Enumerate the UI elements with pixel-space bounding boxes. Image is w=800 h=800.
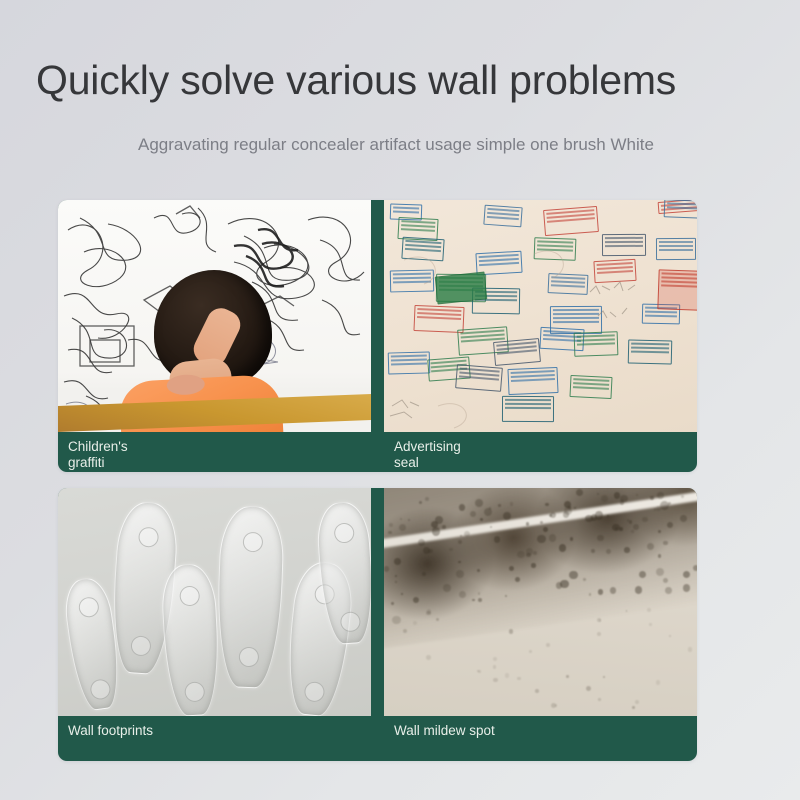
mildew-spot	[683, 571, 690, 578]
shoe-sole-print	[215, 505, 285, 689]
mildew-spot	[551, 703, 556, 708]
mildew-spot	[509, 566, 514, 571]
mildew-spot	[456, 570, 464, 578]
gallery-tile-advertising-seal[interactable]: Advertising seal	[384, 200, 697, 471]
mildew-spot	[663, 578, 668, 583]
tile-caption: Wall footprints	[58, 716, 371, 749]
mildew-spot	[427, 609, 432, 614]
mildew-spot	[635, 700, 639, 704]
mildew-spot	[566, 675, 569, 678]
photo-wall-mildew-spot	[384, 488, 697, 716]
mildew-spot	[635, 586, 642, 593]
mildew-spot	[531, 563, 535, 567]
mildew-spot	[517, 677, 521, 681]
mildew-spot	[549, 534, 557, 542]
mildew-spot	[459, 504, 465, 510]
mildew-spot	[656, 680, 661, 685]
mildew-spot	[680, 515, 687, 522]
mildew-spot	[517, 551, 525, 559]
gallery-tile-wall-mildew-spot[interactable]: Wall mildew spot	[384, 488, 697, 749]
mildew-spot	[598, 589, 604, 595]
mildew-spot	[400, 518, 402, 520]
mildew-spot	[458, 540, 462, 544]
tile-divider	[371, 200, 384, 471]
mildew-spot	[624, 547, 629, 552]
mildew-spot	[545, 503, 548, 506]
mildew-spot	[589, 593, 591, 595]
mildew-spot	[394, 558, 401, 565]
shoe-sole-print	[160, 563, 222, 716]
mildew-spot	[657, 492, 664, 499]
mildew-spot	[423, 547, 430, 554]
mildew-spot	[384, 566, 389, 571]
mildew-spot	[642, 517, 647, 522]
caption-line-2: graffiti	[68, 455, 371, 471]
caption-line-1: Children's	[68, 439, 371, 455]
page-title: Quickly solve various wall problems	[36, 56, 676, 104]
mildew-spot	[597, 535, 604, 542]
photo-advertising-seal	[384, 200, 697, 432]
tile-caption: Advertising seal	[384, 432, 697, 471]
gallery-tile-childrens-graffiti[interactable]: Children's graffiti	[58, 200, 371, 471]
photo-childrens-graffiti	[58, 200, 371, 432]
caption-line-1: Wall mildew spot	[394, 723, 697, 739]
mildew-spot	[586, 686, 591, 691]
mildew-spot	[425, 497, 429, 501]
photo-wall-footprints	[58, 488, 371, 716]
mildew-spot	[537, 535, 545, 543]
handwriting-marks-icon	[384, 200, 697, 432]
mildew-spot	[535, 689, 539, 693]
gallery-row-bottom: Wall footprints Wall mildew spot	[58, 488, 697, 761]
mildew-spot	[649, 623, 651, 625]
mildew-spot	[599, 619, 601, 621]
mildew-spot	[529, 650, 532, 653]
mildew-spot	[395, 581, 397, 583]
tile-caption: Children's graffiti	[58, 432, 371, 471]
mildew-spot	[647, 608, 651, 612]
mildew-spot	[526, 522, 530, 526]
page-subtitle: Aggravating regular concealer artifact u…	[138, 133, 658, 156]
mildew-spot	[693, 565, 697, 572]
mildew-spot	[663, 541, 667, 545]
mildew-spot	[478, 592, 481, 595]
tile-caption: Wall mildew spot	[384, 716, 697, 749]
mildew-spot	[688, 647, 692, 651]
mildew-spot	[546, 643, 550, 647]
mildew-spot	[607, 515, 609, 517]
mildew-spot	[509, 629, 513, 633]
mildew-spot	[550, 512, 556, 518]
mildew-spot	[665, 587, 672, 594]
mildew-spot	[556, 582, 563, 589]
mildew-spot	[493, 665, 497, 669]
mildew-spot	[505, 673, 510, 678]
caption-line-1: Advertising	[394, 439, 697, 455]
mildew-spot	[418, 539, 425, 546]
mildew-spot	[526, 548, 533, 555]
mildew-spot	[569, 571, 578, 580]
mildew-spot	[570, 537, 573, 540]
mildew-spot	[598, 698, 601, 701]
mildew-spot	[490, 526, 492, 528]
caption-line-1: Wall footprints	[68, 723, 371, 739]
mildew-spot	[493, 678, 498, 683]
mildew-spot	[392, 616, 401, 625]
mildew-spot	[629, 520, 633, 524]
mildew-spot	[493, 657, 497, 661]
mildew-spot	[426, 655, 431, 660]
mildew-spot	[669, 635, 671, 637]
mildew-spot	[603, 676, 605, 678]
tile-divider	[371, 488, 384, 749]
mildew-spot	[464, 531, 470, 537]
mildew-spot	[595, 511, 604, 520]
mildew-spot	[408, 519, 410, 521]
mildew-spot	[389, 523, 393, 527]
mildew-spot	[477, 569, 480, 572]
caption-line-2: seal	[394, 455, 697, 471]
mildew-spot	[597, 632, 601, 636]
mildew-spot	[627, 519, 629, 521]
mildew-spot	[478, 598, 482, 602]
gallery-row-top: Children's graffiti	[58, 200, 697, 472]
promo-page: Quickly solve various wall problems Aggr…	[0, 0, 800, 800]
mildew-spot	[656, 568, 664, 576]
mildew-spot	[668, 502, 671, 505]
mildew-spot	[443, 584, 451, 592]
mildew-spot	[563, 511, 570, 518]
mildew-spot	[559, 544, 567, 552]
gallery-tile-wall-footprints[interactable]: Wall footprints	[58, 488, 371, 749]
mildew-spot	[475, 499, 483, 507]
mildew-spot	[458, 561, 461, 564]
mildew-spot	[683, 584, 691, 592]
mildew-spot	[632, 706, 635, 709]
